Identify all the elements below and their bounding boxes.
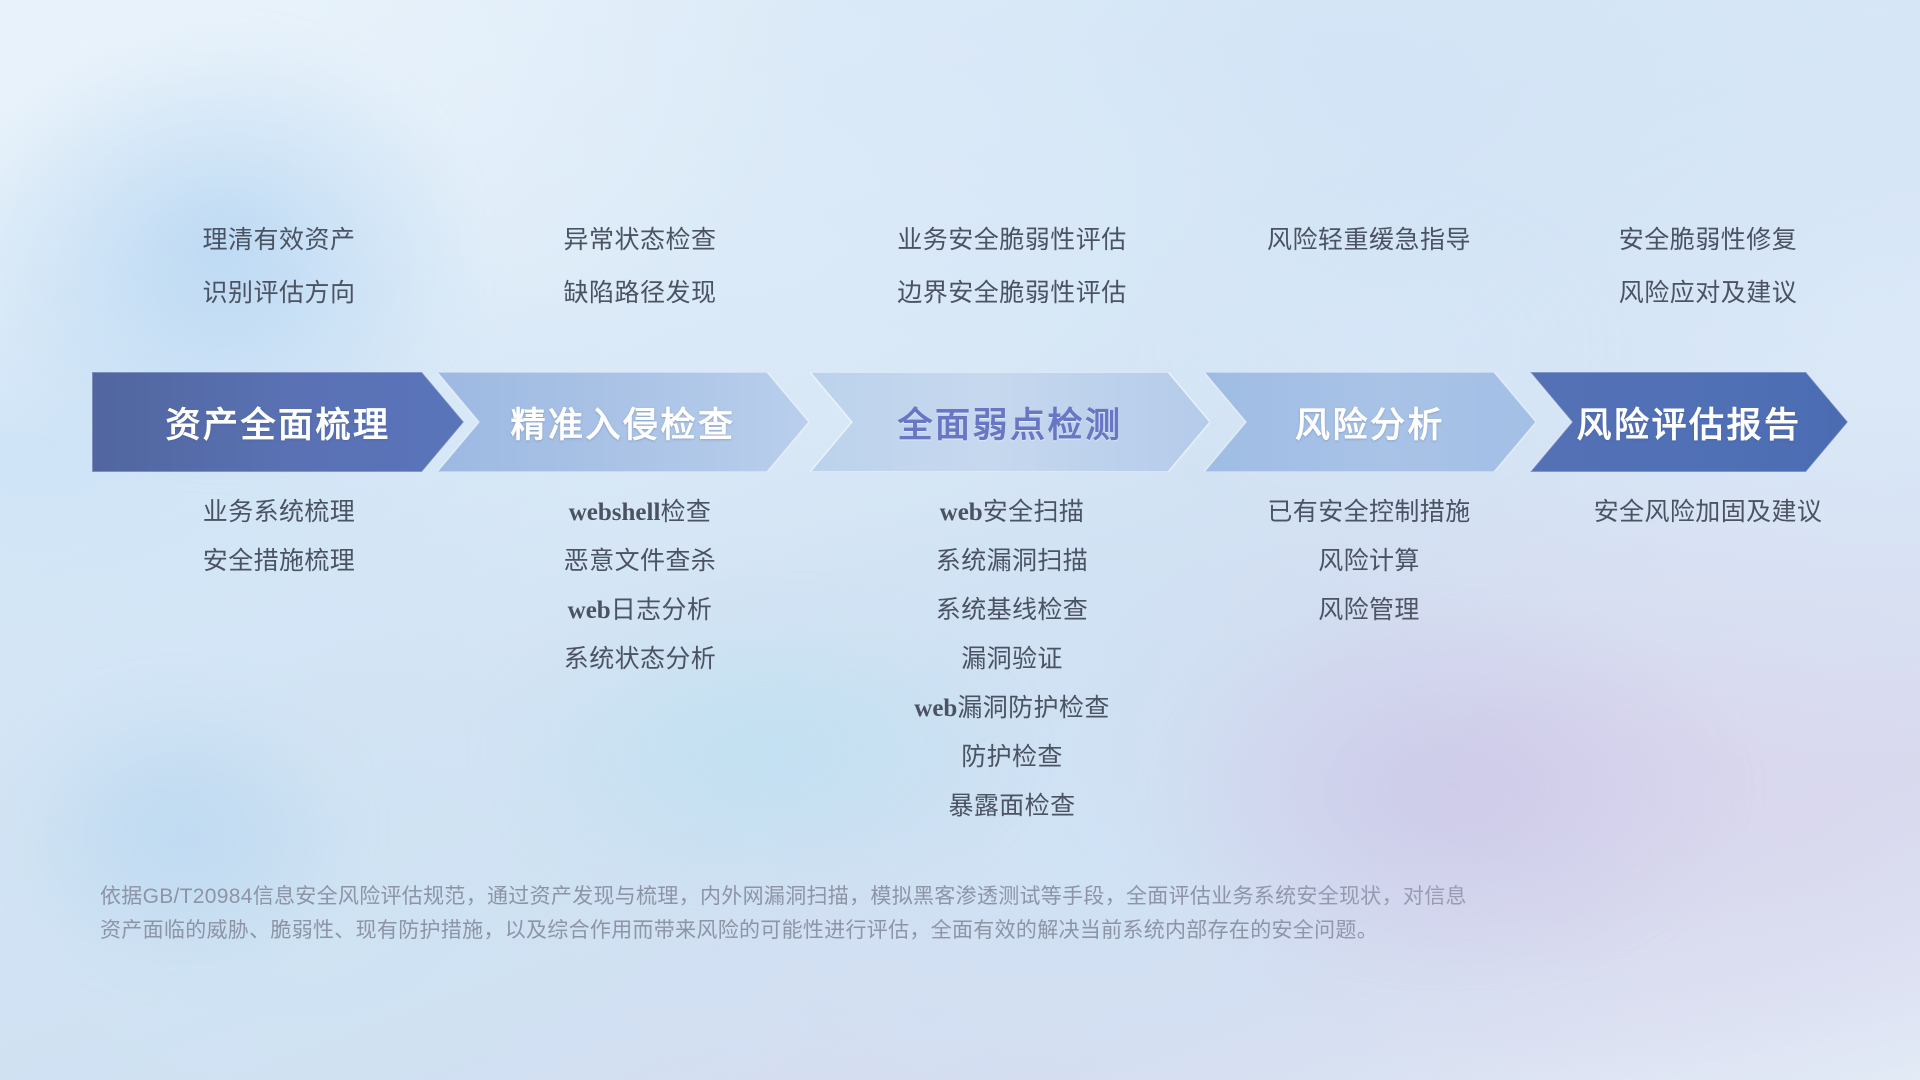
list-item: 系统基线检查 bbox=[817, 598, 1207, 623]
stage-arrow-intrusion-check[interactable]: 精准入侵检查 bbox=[437, 372, 809, 472]
top-label: 安全脆弱性修复 bbox=[1531, 228, 1885, 253]
list-item: 系统状态分析 bbox=[463, 647, 817, 672]
list-item: webshell检查 bbox=[463, 500, 817, 525]
list-item: 安全措施梳理 bbox=[95, 549, 463, 574]
list-item: 暴露面检查 bbox=[817, 794, 1207, 819]
top-label: 异常状态检查 bbox=[463, 228, 817, 253]
top-labels-row: 理清有效资产 识别评估方向 异常状态检查 缺陷路径发现 业务安全脆弱性评估 边界… bbox=[95, 228, 1885, 306]
list-item: 系统漏洞扫描 bbox=[817, 549, 1207, 574]
process-arrow-banner: 资产全面梳理 精准入侵检查 bbox=[92, 372, 1848, 472]
stage-title: 全面弱点检测 bbox=[897, 397, 1122, 448]
stage-title: 资产全面梳理 bbox=[165, 397, 390, 448]
top-label: 缺陷路径发现 bbox=[463, 281, 817, 306]
list-item: web日志分析 bbox=[463, 598, 817, 623]
stage-items-weakness-detection: web安全扫描 系统漏洞扫描 系统基线检查 漏洞验证 web漏洞防护检查 防护检… bbox=[817, 500, 1207, 819]
list-item: 漏洞验证 bbox=[817, 647, 1207, 672]
list-item: 业务系统梳理 bbox=[95, 500, 463, 525]
stage-items-risk-report: 安全风险加固及建议 bbox=[1531, 500, 1885, 819]
stage-arrow-weakness-detection[interactable]: 全面弱点检测 bbox=[810, 372, 1210, 472]
top-labels-weakness-detection: 业务安全脆弱性评估 边界安全脆弱性评估 bbox=[817, 228, 1207, 306]
stage-items-asset-inventory: 业务系统梳理 安全措施梳理 bbox=[95, 500, 463, 819]
top-label: 业务安全脆弱性评估 bbox=[817, 228, 1207, 253]
top-label: 识别评估方向 bbox=[95, 281, 463, 306]
slide-content: 理清有效资产 识别评估方向 异常状态检查 缺陷路径发现 业务安全脆弱性评估 边界… bbox=[0, 0, 1920, 1080]
list-item: web漏洞防护检查 bbox=[817, 696, 1207, 721]
top-labels-asset-inventory: 理清有效资产 识别评估方向 bbox=[95, 228, 463, 306]
top-label: 理清有效资产 bbox=[95, 228, 463, 253]
stage-title: 精准入侵检查 bbox=[510, 397, 735, 448]
slide-canvas: 理清有效资产 识别评估方向 异常状态检查 缺陷路径发现 业务安全脆弱性评估 边界… bbox=[0, 0, 1920, 1080]
list-item: 风险计算 bbox=[1207, 549, 1531, 574]
list-item: 恶意文件查杀 bbox=[463, 549, 817, 574]
stage-title: 风险分析 bbox=[1295, 397, 1445, 448]
top-label: 风险应对及建议 bbox=[1531, 281, 1885, 306]
top-label: 边界安全脆弱性评估 bbox=[817, 281, 1207, 306]
stage-items-row: 业务系统梳理 安全措施梳理 webshell检查 恶意文件查杀 web日志分析 … bbox=[95, 500, 1885, 819]
stage-arrow-asset-inventory[interactable]: 资产全面梳理 bbox=[92, 372, 464, 472]
footer-line-1: 依据GB/T20984信息安全风险评估规范，通过资产发现与梳理，内外网漏洞扫描，… bbox=[100, 880, 1760, 914]
list-item: web安全扫描 bbox=[817, 500, 1207, 525]
stage-items-risk-analysis: 已有安全控制措施 风险计算 风险管理 bbox=[1207, 500, 1531, 819]
top-labels-risk-analysis: 风险轻重缓急指导 bbox=[1207, 228, 1531, 306]
stage-items-intrusion-check: webshell检查 恶意文件查杀 web日志分析 系统状态分析 bbox=[463, 500, 817, 819]
top-labels-intrusion-check: 异常状态检查 缺陷路径发现 bbox=[463, 228, 817, 306]
top-label: 风险轻重缓急指导 bbox=[1207, 228, 1531, 253]
stage-arrow-risk-analysis[interactable]: 风险分析 bbox=[1204, 372, 1536, 472]
list-item: 已有安全控制措施 bbox=[1207, 500, 1531, 525]
footer-description: 依据GB/T20984信息安全风险评估规范，通过资产发现与梳理，内外网漏洞扫描，… bbox=[100, 880, 1760, 947]
list-item: 风险管理 bbox=[1207, 598, 1531, 623]
list-item: 防护检查 bbox=[817, 745, 1207, 770]
footer-line-2: 资产面临的威胁、脆弱性、现有防护措施，以及综合作用而带来风险的可能性进行评估，全… bbox=[100, 914, 1760, 948]
top-labels-risk-report: 安全脆弱性修复 风险应对及建议 bbox=[1531, 228, 1885, 306]
stage-title: 风险评估报告 bbox=[1576, 397, 1801, 448]
list-item: 安全风险加固及建议 bbox=[1531, 500, 1885, 525]
stage-arrow-risk-report[interactable]: 风险评估报告 bbox=[1530, 372, 1848, 472]
